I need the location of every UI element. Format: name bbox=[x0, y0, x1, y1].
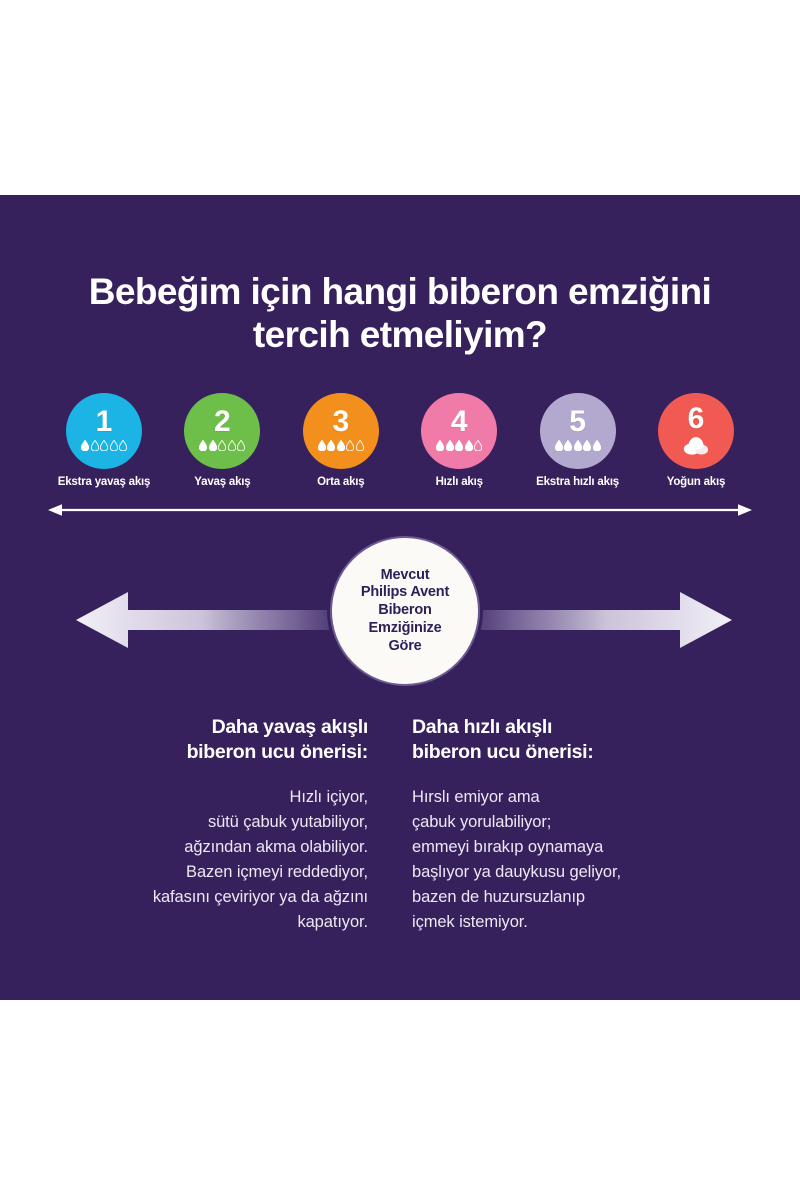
flow-droplet-indicator bbox=[555, 439, 601, 452]
flow-circle-4: 4 bbox=[421, 393, 497, 469]
body-text-line: içmek istemiyor. bbox=[412, 910, 740, 935]
recommendation-columns: Daha yavaş akışlı biberon ucu önerisi: H… bbox=[40, 715, 760, 935]
droplet-icon bbox=[237, 440, 245, 451]
droplet-icon bbox=[218, 440, 226, 451]
flow-circle-6: 6 bbox=[658, 393, 734, 469]
thick-arrow-right bbox=[452, 590, 732, 650]
thick-arrow-right-icon bbox=[452, 590, 732, 650]
column-faster-body: Hırslı emiyor amaçabuk yorulabiliyor;emm… bbox=[412, 785, 740, 935]
body-text-line: başlıyor ya dauykusu geliyor, bbox=[412, 860, 740, 885]
center-circle-text-line: Philips Avent bbox=[361, 584, 449, 602]
droplet-icon bbox=[474, 440, 482, 451]
page-title-line-1: Bebeğim için hangi biberon emziğini bbox=[89, 271, 711, 312]
flow-circle-number: 4 bbox=[451, 408, 468, 437]
column-slower-flow: Daha yavaş akışlı biberon ucu önerisi: H… bbox=[40, 715, 390, 935]
flow-circle-label: Yoğun akış bbox=[667, 476, 726, 488]
body-text-line: sütü çabuk yutabiliyor, bbox=[40, 810, 368, 835]
column-slower-heading-line-1: Daha yavaş akışlı bbox=[212, 716, 368, 738]
flow-circle-label: Ekstra yavaş akış bbox=[58, 476, 151, 488]
body-text-line: Hırslı emiyor ama bbox=[412, 785, 740, 810]
column-faster-heading-emphasis: hızlı bbox=[464, 716, 500, 738]
center-circle-text: MevcutPhilips AventBiberonEmziğinizeGöre bbox=[361, 567, 449, 655]
body-text-line: Bazen içmeyi reddediyor, bbox=[40, 860, 368, 885]
droplet-icon bbox=[110, 440, 118, 451]
flow-scale-arrow bbox=[48, 503, 752, 517]
flow-droplet-indicator bbox=[81, 439, 127, 452]
droplet-icon bbox=[583, 440, 591, 451]
column-faster-flow: Daha hızlı akışlı biberon ucu önerisi: H… bbox=[390, 715, 740, 935]
droplet-icon bbox=[455, 440, 463, 451]
droplet-icon bbox=[356, 440, 364, 451]
flow-droplet-indicator bbox=[318, 439, 364, 452]
droplet-icon bbox=[593, 440, 601, 451]
droplet-icon bbox=[119, 440, 127, 451]
flow-circle-item-1[interactable]: 1Ekstra yavaş akış bbox=[45, 393, 163, 488]
column-faster-heading: Daha hızlı akışlı biberon ucu önerisi: bbox=[412, 715, 740, 765]
flow-droplet-indicator bbox=[199, 439, 245, 452]
droplet-icon bbox=[574, 440, 582, 451]
center-reference-circle: MevcutPhilips AventBiberonEmziğinizeGöre bbox=[330, 536, 480, 686]
flow-circle-label: Ekstra hızlı akış bbox=[536, 476, 619, 488]
column-slower-heading: Daha yavaş akışlı biberon ucu önerisi: bbox=[40, 715, 368, 765]
flow-circle-label: Hızlı akış bbox=[436, 476, 483, 488]
page-title-line-2: tercih etmeliyim? bbox=[40, 313, 760, 356]
droplet-icon bbox=[81, 440, 89, 451]
center-circle-text-line: Emziğinize bbox=[361, 620, 449, 638]
droplet-icon bbox=[91, 440, 99, 451]
thick-arrow-left bbox=[76, 590, 356, 650]
purple-panel: Bebeğim için hangi biberon emziğini terc… bbox=[0, 195, 800, 1000]
flow-circle-item-3[interactable]: 3Orta akış bbox=[282, 393, 400, 488]
body-text-line: Hızlı içiyor, bbox=[40, 785, 368, 810]
center-circle-text-line: Biberon bbox=[361, 602, 449, 620]
center-circle-text-line: Göre bbox=[361, 638, 449, 656]
droplet-icon bbox=[436, 440, 444, 451]
flow-circle-number: 6 bbox=[688, 405, 705, 434]
droplet-icon bbox=[327, 440, 335, 451]
page-title: Bebeğim için hangi biberon emziğini terc… bbox=[40, 270, 760, 357]
flow-circle-number: 1 bbox=[96, 408, 113, 437]
body-text-line: emmeyi bırakıp oynamaya bbox=[412, 835, 740, 860]
flow-circle-item-2[interactable]: 2Yavaş akış bbox=[163, 393, 281, 488]
flow-circle-number: 3 bbox=[332, 408, 349, 437]
droplet-icon bbox=[465, 440, 473, 451]
droplet-icon bbox=[100, 440, 108, 451]
flow-circle-item-6[interactable]: 6Yoğun akış bbox=[637, 393, 755, 488]
column-slower-body: Hızlı içiyor,sütü çabuk yutabiliyor,ağzı… bbox=[40, 785, 368, 935]
flow-circle-label: Yavaş akış bbox=[194, 476, 250, 488]
droplet-icon bbox=[564, 440, 572, 451]
flow-circle-3: 3 bbox=[303, 393, 379, 469]
droplet-icon bbox=[199, 440, 207, 451]
flow-droplet-indicator bbox=[436, 439, 482, 452]
flow-circle-number: 5 bbox=[569, 408, 586, 437]
flow-circle-5: 5 bbox=[540, 393, 616, 469]
droplet-icon bbox=[228, 440, 236, 451]
center-circle-text-line: Mevcut bbox=[361, 567, 449, 585]
droplet-icon bbox=[555, 440, 563, 451]
flow-circle-2: 2 bbox=[184, 393, 260, 469]
droplet-icon bbox=[209, 440, 217, 451]
flow-circle-label: Orta akış bbox=[317, 476, 364, 488]
body-text-line: bazen de huzursuzlanıp bbox=[412, 885, 740, 910]
column-slower-heading-line-2: biberon ucu önerisi: bbox=[187, 741, 368, 763]
body-text-line: ağzından akma olabiliyor. bbox=[40, 835, 368, 860]
thick-blob-icon bbox=[683, 436, 709, 455]
flow-circle-item-5[interactable]: 5Ekstra hızlı akış bbox=[519, 393, 637, 488]
flow-circle-item-4[interactable]: 4Hızlı akış bbox=[400, 393, 518, 488]
body-text-line: çabuk yorulabiliyor; bbox=[412, 810, 740, 835]
flow-circle-1: 1 bbox=[66, 393, 142, 469]
droplet-icon bbox=[337, 440, 345, 451]
double-headed-arrow-icon bbox=[48, 503, 752, 517]
flow-scale-circles: 1Ekstra yavaş akış2Yavaş akış3Orta akış4… bbox=[45, 393, 755, 498]
column-faster-heading-line-2: biberon ucu önerisi: bbox=[412, 741, 593, 763]
body-text-line: kapatıyor. bbox=[40, 910, 368, 935]
body-text-line: kafasını çeviriyor ya da ağzını bbox=[40, 885, 368, 910]
thick-arrow-left-icon bbox=[76, 590, 356, 650]
droplet-icon bbox=[346, 440, 354, 451]
droplet-icon bbox=[446, 440, 454, 451]
column-faster-heading-suffix: akışlı bbox=[500, 716, 552, 738]
flow-circle-number: 2 bbox=[214, 408, 231, 437]
infographic-page: Bebeğim için hangi biberon emziğini terc… bbox=[0, 0, 800, 1200]
droplet-icon bbox=[318, 440, 326, 451]
column-faster-heading-pre: Daha bbox=[412, 716, 464, 738]
